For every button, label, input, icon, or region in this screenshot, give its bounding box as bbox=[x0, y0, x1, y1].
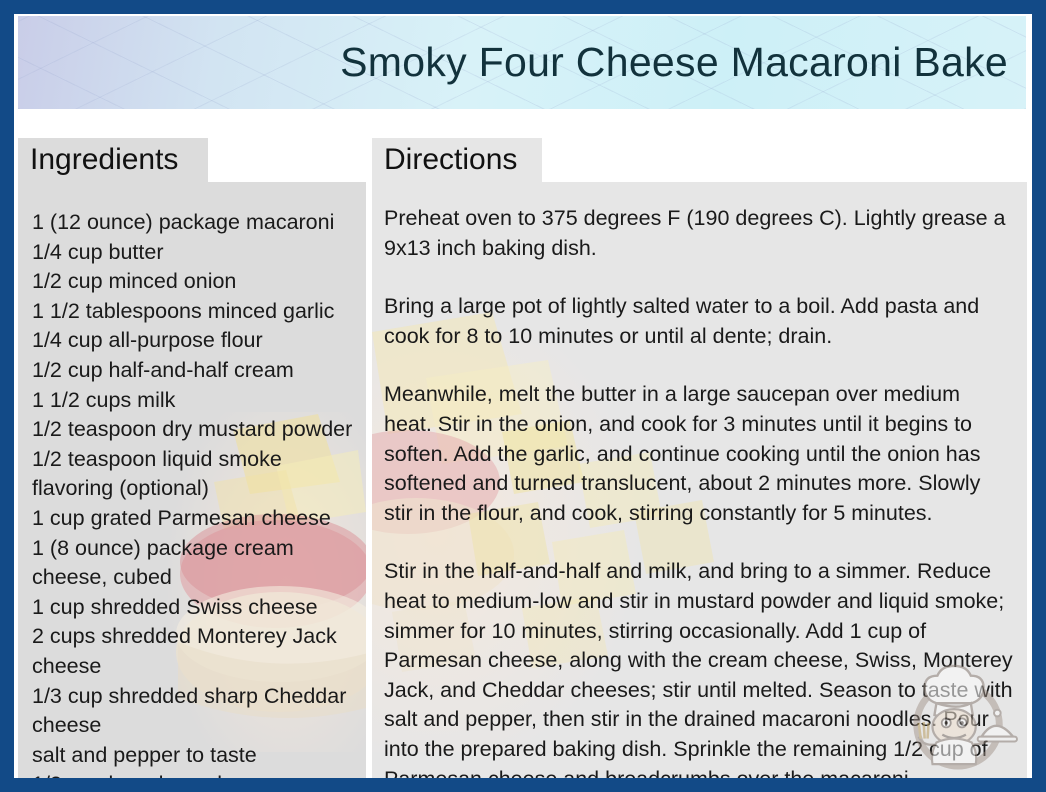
list-item: salt and pepper to taste bbox=[32, 741, 356, 771]
directions-panel: Preheat oven to 375 degrees F (190 degre… bbox=[372, 182, 1027, 778]
ingredients-list: 1 (12 ounce) package macaroni 1/4 cup bu… bbox=[18, 182, 366, 778]
list-item: 1 (12 ounce) package macaroni bbox=[32, 208, 356, 238]
list-item: 1 cup shredded Swiss cheese bbox=[32, 593, 356, 623]
list-item: 1 1/2 tablespoons minced garlic bbox=[32, 297, 356, 327]
slide-canvas: Smoky Four Cheese Macaroni Bake Ingredie… bbox=[14, 14, 1032, 778]
list-item: 1/2 cup bread crumbs bbox=[32, 770, 356, 778]
list-item: 1 cup grated Parmesan cheese bbox=[32, 504, 356, 534]
directions-heading: Directions bbox=[372, 138, 542, 186]
list-item: 1 1/2 cups milk bbox=[32, 386, 356, 416]
list-item: 1/2 cup half-and-half cream bbox=[32, 356, 356, 386]
list-item: 1/4 cup butter bbox=[32, 238, 356, 268]
list-item: 1/3 cup shredded sharp Cheddar cheese bbox=[32, 682, 356, 741]
ingredients-heading: Ingredients bbox=[18, 138, 208, 186]
list-item: 1 (8 ounce) package cream cheese, cubed bbox=[32, 534, 356, 593]
direction-step: Preheat oven to 375 degrees F (190 degre… bbox=[384, 204, 1013, 263]
page-title: Smoky Four Cheese Macaroni Bake bbox=[340, 39, 1026, 86]
direction-step: Bring a large pot of lightly salted wate… bbox=[384, 292, 1013, 351]
direction-step: Stir in the half-and-half and milk, and … bbox=[384, 557, 1013, 778]
list-item: 1/4 cup all-purpose flour bbox=[32, 326, 356, 356]
list-item: 1/2 teaspoon dry mustard powder bbox=[32, 415, 356, 445]
directions-text: Preheat oven to 375 degrees F (190 degre… bbox=[372, 182, 1027, 778]
list-item: 1/2 teaspoon liquid smoke flavoring (opt… bbox=[32, 445, 356, 504]
recipe-slide: Smoky Four Cheese Macaroni Bake Ingredie… bbox=[0, 0, 1046, 792]
direction-step: Meanwhile, melt the butter in a large sa… bbox=[384, 380, 1013, 528]
title-banner: Smoky Four Cheese Macaroni Bake bbox=[18, 16, 1026, 109]
list-item: 2 cups shredded Monterey Jack cheese bbox=[32, 622, 356, 681]
list-item: 1/2 cup minced onion bbox=[32, 267, 356, 297]
ingredients-panel: 1 (12 ounce) package macaroni 1/4 cup bu… bbox=[18, 182, 366, 778]
